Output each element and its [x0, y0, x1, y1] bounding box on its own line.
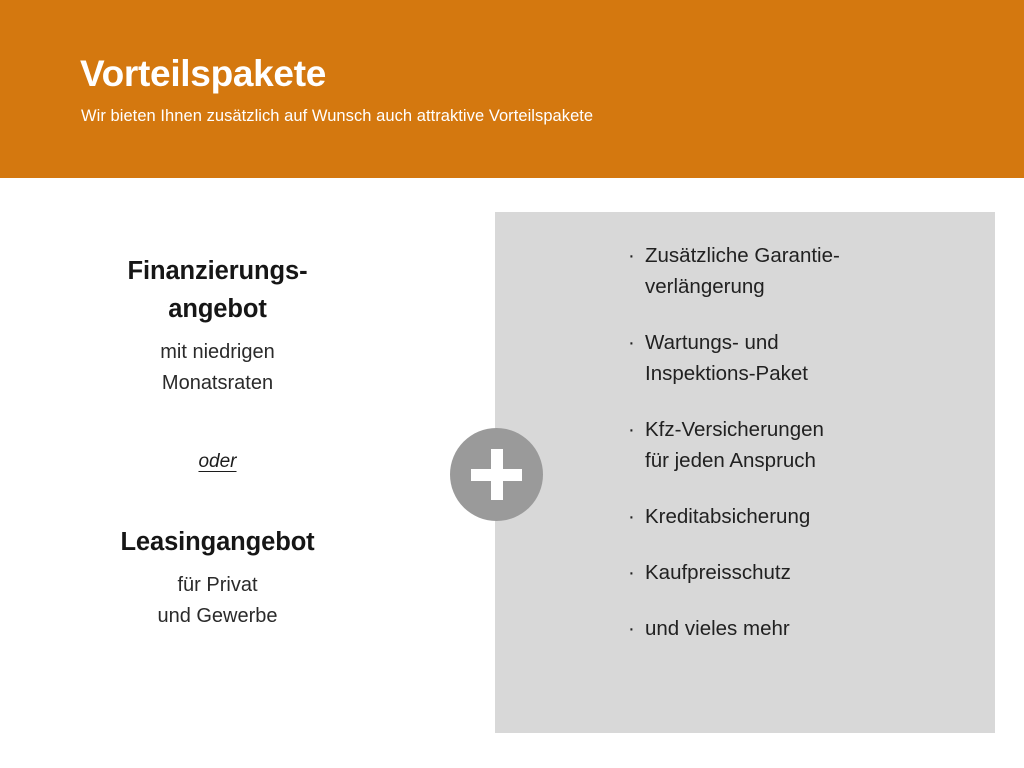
benefit-item-line1: Kfz-Versicherungen: [645, 414, 975, 445]
offer-divider-word: oder: [60, 399, 375, 474]
benefit-item: · Kreditabsicherung: [495, 501, 995, 532]
benefit-item-line1: Wartungs- und: [645, 327, 975, 358]
plus-icon: [450, 428, 543, 521]
bullet-icon: ·: [628, 327, 635, 358]
benefit-item: · und vieles mehr: [495, 613, 995, 644]
leasing-offer-desc-line1: für Privat: [60, 570, 375, 601]
bullet-icon: ·: [628, 414, 635, 445]
benefit-item-line1: Kreditabsicherung: [645, 501, 975, 532]
benefit-item: · Wartungs- und Inspektions-Paket: [495, 327, 995, 389]
bullet-icon: ·: [628, 501, 635, 532]
financing-offer-title-line1: Finanzierungs-: [60, 252, 375, 290]
leasing-offer-title: Leasingangebot: [60, 523, 375, 561]
leasing-offer-block: Leasingangebot für Privat und Gewerbe: [60, 474, 375, 632]
benefit-item: · Zusätzliche Garantie- verlängerung: [495, 240, 995, 302]
benefit-item-line1: und vieles mehr: [645, 613, 975, 644]
financing-offer-description: mit niedrigen Monatsraten: [60, 337, 375, 399]
header-banner: Vorteilspakete Wir bieten Ihnen zusätzli…: [0, 0, 1024, 178]
benefit-item-line1: Kaufpreisschutz: [645, 557, 975, 588]
plus-icon-vertical-bar: [491, 449, 503, 500]
financing-offer-title: Finanzierungs- angebot: [60, 252, 375, 328]
financing-offer-desc-line2: Monatsraten: [60, 368, 375, 399]
page-subtitle: Wir bieten Ihnen zusätzlich auf Wunsch a…: [81, 105, 593, 127]
benefit-item-line2: Inspektions-Paket: [645, 358, 975, 389]
benefit-item-line2: verlängerung: [645, 271, 975, 302]
leasing-offer-desc-line2: und Gewerbe: [60, 601, 375, 632]
financing-offer-block: Finanzierungs- angebot mit niedrigen Mon…: [60, 252, 375, 399]
benefit-item-line1: Zusätzliche Garantie-: [645, 240, 975, 271]
bullet-icon: ·: [628, 557, 635, 588]
benefit-item: · Kfz-Versicherungen für jeden Anspruch: [495, 414, 995, 476]
bullet-icon: ·: [628, 240, 635, 271]
page-title: Vorteilspakete: [80, 52, 326, 96]
benefit-item-line2: für jeden Anspruch: [645, 445, 975, 476]
benefits-panel: · Zusätzliche Garantie- verlängerung · W…: [495, 212, 995, 733]
content-area: Finanzierungs- angebot mit niedrigen Mon…: [0, 178, 1024, 768]
financing-offer-title-line2: angebot: [60, 290, 375, 328]
offers-column: Finanzierungs- angebot mit niedrigen Mon…: [60, 252, 375, 632]
financing-offer-desc-line1: mit niedrigen: [60, 337, 375, 368]
benefits-list: · Zusätzliche Garantie- verlängerung · W…: [495, 212, 995, 644]
benefit-item: · Kaufpreisschutz: [495, 557, 995, 588]
leasing-offer-description: für Privat und Gewerbe: [60, 570, 375, 632]
bullet-icon: ·: [628, 613, 635, 644]
